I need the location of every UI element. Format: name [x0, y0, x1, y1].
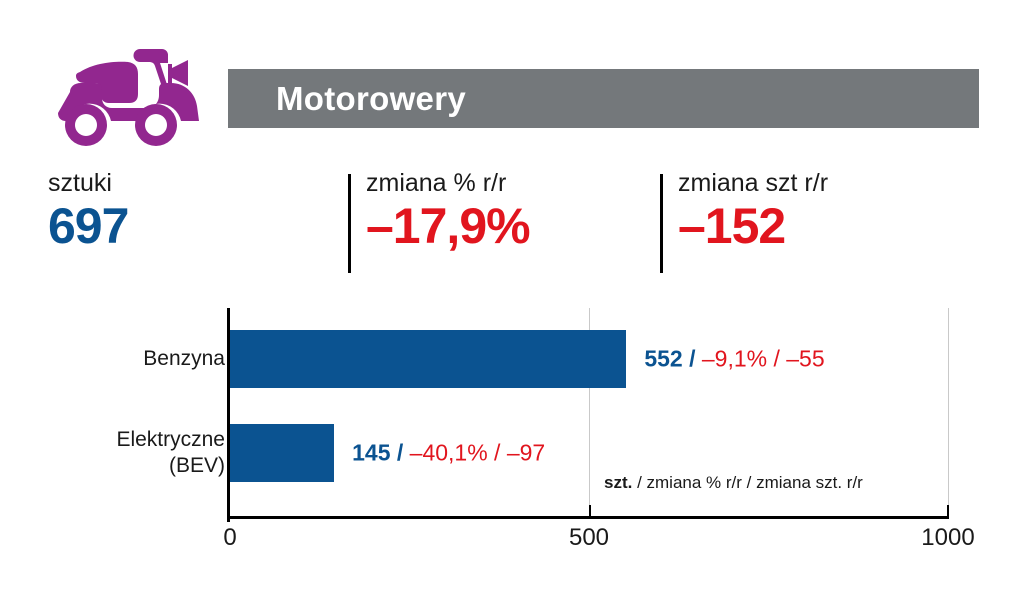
- kpi-percent-change-value: –17,9%: [366, 198, 530, 254]
- bar-1: [230, 424, 334, 482]
- bar-annotation-0: 552 / –9,1% / –55: [644, 346, 824, 373]
- kpi-divider-2: [660, 174, 663, 273]
- title-bar: Motorowery: [228, 69, 979, 128]
- bar-value-0: 552: [644, 346, 682, 372]
- infographic-page: Motorowery sztuki 697 zmiana % r/r –17,9…: [0, 0, 1021, 597]
- kpi-divider-1: [348, 174, 351, 273]
- kpi-unit-change: zmiana szt r/r –152: [678, 168, 828, 254]
- kpi-total: sztuki 697: [48, 168, 128, 254]
- bar-category-label-0: Benzyna: [143, 346, 225, 372]
- x-axis: [227, 516, 949, 519]
- bar-pct-1: –40,1%: [410, 440, 488, 466]
- bar-delta-1: –97: [507, 440, 545, 466]
- bar-0: [230, 330, 626, 388]
- bar-annotation-1: 145 / –40,1% / –97: [352, 440, 545, 467]
- x-tick-label-1000: 1000: [921, 524, 974, 552]
- bar-sep-0b: /: [767, 346, 786, 372]
- bar-delta-0: –55: [786, 346, 824, 372]
- kpi-unit-change-label: zmiana szt r/r: [678, 168, 828, 198]
- table-row: Benzyna 552 / –9,1% / –55: [0, 330, 1021, 388]
- kpi-percent-change: zmiana % r/r –17,9%: [366, 168, 530, 254]
- bar-pct-0: –9,1%: [702, 346, 767, 372]
- legend-note: szt. / zmiana % r/r / zmiana szt. r/r: [604, 473, 863, 493]
- legend-note-rest: / zmiana % r/r / zmiana szt. r/r: [632, 473, 863, 492]
- bar-category-label-1: Elektryczne (BEV): [116, 427, 225, 479]
- kpi-unit-change-value: –152: [678, 198, 828, 254]
- bar-sep-1b: /: [488, 440, 507, 466]
- kpi-percent-change-label: zmiana % r/r: [366, 168, 530, 198]
- kpi-total-value: 697: [48, 198, 128, 254]
- scooter-icon: [56, 44, 204, 148]
- page-title: Motorowery: [276, 80, 466, 118]
- bar-value-1: 145: [352, 440, 390, 466]
- bar-chart: Benzyna 552 / –9,1% / –55 Elektryczne (B…: [0, 300, 1021, 597]
- x-axis-end-cap: [947, 505, 949, 519]
- legend-note-bold: szt.: [604, 473, 632, 492]
- bar-sep-0a: /: [683, 346, 702, 372]
- bar-sep-1a: /: [390, 440, 409, 466]
- x-tick-label-500: 500: [569, 524, 609, 552]
- kpi-total-label: sztuki: [48, 168, 128, 198]
- table-row: Elektryczne (BEV) 145 / –40,1% / –97: [0, 424, 1021, 482]
- x-tick-label-0: 0: [223, 524, 236, 552]
- x-axis-tick-500: [589, 505, 591, 519]
